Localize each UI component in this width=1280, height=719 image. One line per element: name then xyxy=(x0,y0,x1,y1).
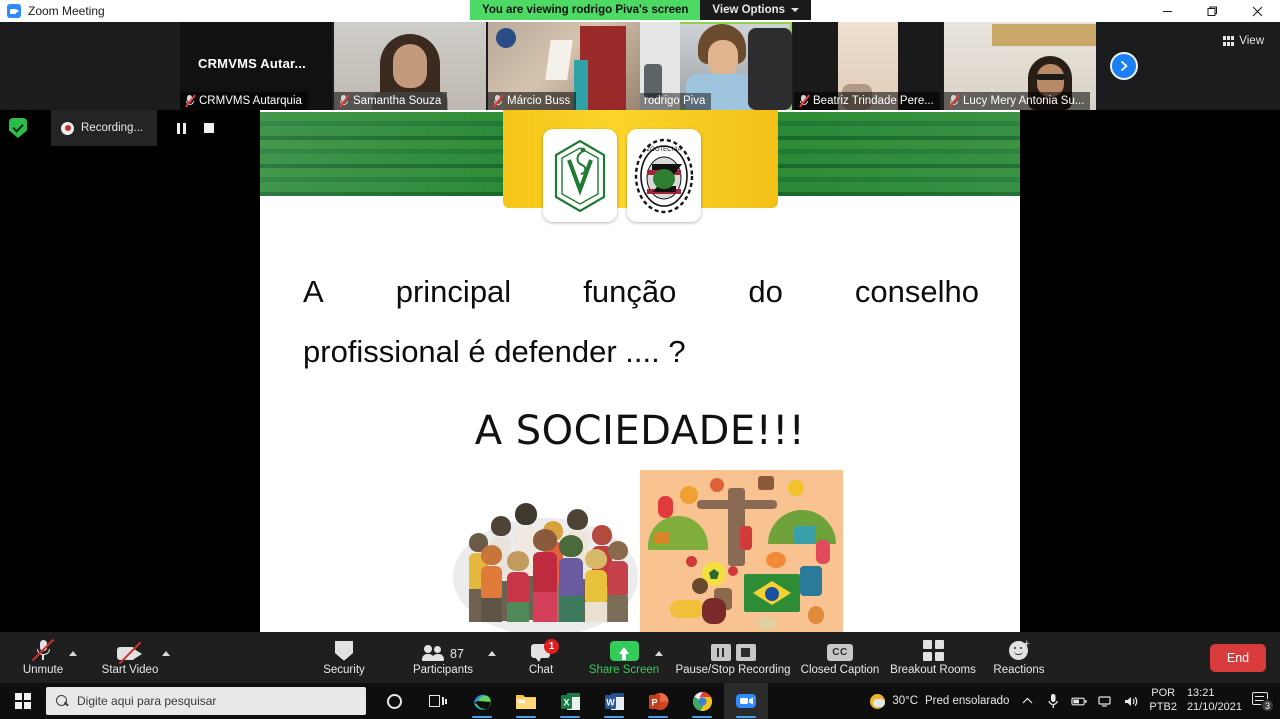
collage-piece xyxy=(800,566,822,596)
crowd-person xyxy=(608,541,628,621)
participant-name: CRMVMS Autarquia xyxy=(199,95,302,107)
view-label: View xyxy=(1239,35,1264,47)
stop-recording-icon[interactable] xyxy=(736,644,756,661)
collage-piece xyxy=(816,540,830,564)
window-controls xyxy=(1145,0,1280,22)
recording-toolbar: Recording... xyxy=(0,110,234,146)
collage-piece xyxy=(680,486,698,504)
record-dot-icon xyxy=(61,122,74,135)
pause-icon[interactable] xyxy=(177,123,186,134)
zoom-meeting-toolbar: Unmute Start Video Security 87 Participa… xyxy=(0,632,1280,683)
participant-name: Lucy Mery Antonia Su... xyxy=(963,95,1084,107)
participant-name: Samantha Souza xyxy=(353,95,441,107)
video-frame-detail xyxy=(748,28,792,110)
question-line-2: profissional é defender .... ? xyxy=(303,322,979,382)
language-indicator[interactable]: POR PTB2 xyxy=(1149,687,1177,715)
participant-name: Márcio Buss xyxy=(507,95,570,107)
weather-icon xyxy=(870,694,885,709)
system-tray: 30°C Pred ensolarado POR PTB2 xyxy=(870,687,1280,715)
security-button[interactable]: Security xyxy=(313,632,375,683)
search-placeholder: Digite aqui para pesquisar xyxy=(77,694,216,708)
question-line-1: A principal função do conselho xyxy=(303,262,979,322)
microphone-muted-icon xyxy=(35,639,51,661)
cc-glyph: CC xyxy=(827,644,853,661)
recording-controls xyxy=(157,110,234,146)
powerpoint-icon[interactable]: P xyxy=(636,683,680,719)
weather-temperature: 30°C xyxy=(892,695,918,707)
collage-piece xyxy=(808,606,824,624)
share-screen-icon xyxy=(610,639,639,661)
brazil-flag-icon xyxy=(744,574,800,612)
mic-muted-icon xyxy=(798,94,809,107)
weather-description: Pred ensolarado xyxy=(925,695,1009,707)
participants-button[interactable]: 87 Participants xyxy=(403,632,483,683)
share-screen-button[interactable]: Share Screen xyxy=(582,632,666,683)
clock-date: 21/10/2021 xyxy=(1187,701,1242,715)
task-view-icon[interactable] xyxy=(416,683,460,719)
collage-piece xyxy=(758,476,774,490)
excel-icon[interactable]: X xyxy=(548,683,592,719)
brazil-map-collage-illustration xyxy=(640,470,843,632)
audio-options-chevron-icon[interactable] xyxy=(69,651,77,656)
view-layout-button[interactable]: View xyxy=(1215,30,1272,52)
chat-button[interactable]: 1 Chat xyxy=(518,632,564,683)
stop-icon[interactable] xyxy=(204,123,214,133)
breakout-rooms-button[interactable]: Breakout Rooms xyxy=(885,632,981,683)
zootecnia-logo: ZOOTECNIA xyxy=(627,129,701,222)
svg-text:P: P xyxy=(651,697,657,707)
svg-text:W: W xyxy=(606,697,615,707)
camera-off-icon xyxy=(117,639,143,661)
collage-piece xyxy=(740,526,752,550)
notification-count: 3 xyxy=(1261,699,1274,712)
reactions-label: Reactions xyxy=(993,665,1044,677)
screen-root: Zoom Meeting You are viewing rodrigo Piv… xyxy=(0,0,1280,719)
participant-name: rodrigo Piva xyxy=(644,95,705,107)
crowd-person xyxy=(533,529,557,621)
video-thumbnail[interactable]: Beatriz Trindade Pere... xyxy=(794,22,942,110)
participant-name-chip: CRMVMS Autarquia xyxy=(180,92,308,110)
participant-name-chip: Lucy Mery Antonia Su... xyxy=(944,92,1090,110)
collage-piece xyxy=(794,526,816,544)
question-word: conselho xyxy=(855,262,979,322)
participant-name-chip: rodrigo Piva xyxy=(640,93,711,110)
volume-icon[interactable] xyxy=(1123,693,1139,709)
window-title: Zoom Meeting xyxy=(28,4,105,18)
mic-muted-icon xyxy=(492,94,503,107)
video-frame-detail xyxy=(708,40,738,76)
question-word: função xyxy=(583,262,676,322)
question-word: do xyxy=(748,262,782,322)
participant-name-chip: Márcio Buss xyxy=(488,92,576,110)
slide-question: A principal função do conselho profissio… xyxy=(303,262,979,383)
restore-icon[interactable] xyxy=(1190,0,1235,22)
collage-piece xyxy=(670,600,704,618)
collage-piece xyxy=(692,578,708,594)
crowd-person xyxy=(559,535,583,621)
video-thumbnail[interactable]: Lucy Mery Antonia Su... xyxy=(944,22,1096,110)
video-frame-detail xyxy=(992,24,1096,46)
word-icon[interactable]: W xyxy=(592,683,636,719)
question-word: principal xyxy=(396,262,511,322)
svg-text:ZOOTECNIA: ZOOTECNIA xyxy=(646,147,681,153)
svg-text:X: X xyxy=(563,697,569,707)
crowd-person xyxy=(507,551,529,621)
collage-piece xyxy=(788,480,804,496)
participant-name-chip: Beatriz Trindade Pere... xyxy=(794,92,940,110)
file-explorer-icon[interactable] xyxy=(504,683,548,719)
notifications-icon[interactable]: 3 xyxy=(1252,692,1272,710)
breakout-rooms-icon xyxy=(923,639,944,661)
chat-label: Chat xyxy=(529,665,553,677)
video-thumbnail[interactable]: Márcio Buss xyxy=(488,22,640,110)
mic-muted-icon xyxy=(948,94,959,107)
windows-taskbar: Digite aqui para pesquisar xyxy=(0,683,1280,719)
video-thumbnail-active[interactable]: rodrigo Piva xyxy=(640,22,792,110)
security-label: Security xyxy=(323,665,365,677)
closed-caption-icon: CC xyxy=(827,639,853,661)
chat-icon: 1 xyxy=(531,639,551,661)
collage-piece xyxy=(654,532,670,544)
collage-piece xyxy=(702,598,726,624)
participants-icon: 87 xyxy=(422,639,464,661)
viewing-screen-text: You are viewing rodrigo Piva's screen xyxy=(470,0,700,20)
clock-time: 13:21 xyxy=(1187,687,1215,701)
collage-piece xyxy=(728,566,738,576)
participants-label: Participants xyxy=(413,665,473,677)
video-frame-detail xyxy=(1036,74,1065,80)
closed-caption-label: Closed Caption xyxy=(801,665,880,677)
reactions-button[interactable]: + Reactions xyxy=(985,632,1053,683)
search-icon xyxy=(56,695,69,708)
share-screen-label: Share Screen xyxy=(589,665,659,677)
windows-start-icon[interactable] xyxy=(0,683,46,719)
mic-muted-icon xyxy=(338,94,349,107)
security-shield-icon[interactable] xyxy=(9,118,27,138)
crowd-person xyxy=(585,549,607,621)
pause-stop-recording-label: Pause/Stop Recording xyxy=(675,665,790,677)
chevron-down-icon xyxy=(791,8,799,12)
microsoft-edge-icon[interactable] xyxy=(460,683,504,719)
network-icon[interactable] xyxy=(1097,693,1113,709)
video-frame-detail xyxy=(496,28,516,48)
recording-label: Recording... xyxy=(81,122,143,134)
battery-icon[interactable] xyxy=(1071,693,1087,709)
cortana-icon[interactable] xyxy=(372,683,416,719)
zoom-taskbar-icon[interactable] xyxy=(724,683,768,719)
collage-piece xyxy=(710,478,724,492)
search-input[interactable]: Digite aqui para pesquisar xyxy=(46,687,366,715)
clock[interactable]: 13:21 21/10/2021 xyxy=(1187,687,1242,715)
zoom-icon xyxy=(7,4,21,18)
weather-widget[interactable]: 30°C Pred ensolarado xyxy=(870,694,1009,709)
shield-icon xyxy=(335,639,353,661)
participants-count: 87 xyxy=(450,647,464,661)
collage-piece xyxy=(658,496,673,518)
crowd-of-people-illustration xyxy=(453,472,638,632)
participant-name: Beatriz Trindade Pere... xyxy=(813,95,934,107)
chrome-icon[interactable] xyxy=(680,683,724,719)
share-options-chevron-icon[interactable] xyxy=(655,651,663,656)
start-video-button[interactable]: Start Video xyxy=(94,632,166,683)
video-options-chevron-icon[interactable] xyxy=(162,651,170,656)
breakout-rooms-label: Breakout Rooms xyxy=(890,665,976,677)
mic-muted-icon xyxy=(184,94,195,107)
start-video-label: Start Video xyxy=(102,665,159,677)
keyboard-layout: PTB2 xyxy=(1149,701,1177,715)
reactions-icon: + xyxy=(1009,639,1030,661)
participants-chevron-icon[interactable] xyxy=(488,651,496,656)
presentation-slide: ZOOTECNIA A principal função do conselho… xyxy=(260,110,1020,632)
unmute-label: Unmute xyxy=(23,665,63,677)
collage-piece xyxy=(766,552,786,568)
chat-unread-badge: 1 xyxy=(544,639,559,654)
recording-controls-icon xyxy=(711,639,756,661)
question-word: A xyxy=(303,262,324,322)
grid-view-icon xyxy=(1223,36,1234,46)
video-frame-detail xyxy=(393,44,427,88)
share-status-banner: You are viewing rodrigo Piva's screen Vi… xyxy=(470,0,811,20)
next-page-arrow-icon[interactable] xyxy=(1110,52,1138,80)
veterinary-medicine-logo xyxy=(543,129,617,222)
minimize-icon[interactable] xyxy=(1145,0,1190,22)
video-thumbnail[interactable]: CRMVMS Autar... CRMVMS Autarquia xyxy=(180,22,332,110)
collage-piece xyxy=(686,556,697,567)
closed-caption-button[interactable]: CC Closed Caption xyxy=(797,632,883,683)
recording-status: Recording... xyxy=(51,110,157,146)
video-frame-detail xyxy=(545,40,573,80)
video-thumbnail[interactable]: Samantha Souza xyxy=(334,22,486,110)
pause-recording-icon[interactable] xyxy=(711,644,731,661)
microphone-icon[interactable] xyxy=(1045,693,1061,709)
tray-overflow-chevron-icon[interactable] xyxy=(1019,693,1035,709)
view-options-button[interactable]: View Options xyxy=(700,0,811,20)
end-label: End xyxy=(1227,651,1249,665)
unmute-button[interactable]: Unmute xyxy=(14,632,72,683)
view-options-label: View Options xyxy=(712,4,785,16)
participant-name-chip: Samantha Souza xyxy=(334,92,447,110)
pause-stop-recording-button[interactable]: Pause/Stop Recording xyxy=(672,632,794,683)
collage-piece xyxy=(758,616,776,630)
crowd-person xyxy=(481,545,502,621)
strip-title: CRMVMS Autar... xyxy=(198,56,306,71)
language-code: POR xyxy=(1151,687,1175,701)
close-icon[interactable] xyxy=(1235,0,1280,22)
slide-answer: A SOCIEDADE!!! xyxy=(260,408,1020,454)
end-meeting-button[interactable]: End xyxy=(1210,644,1266,672)
